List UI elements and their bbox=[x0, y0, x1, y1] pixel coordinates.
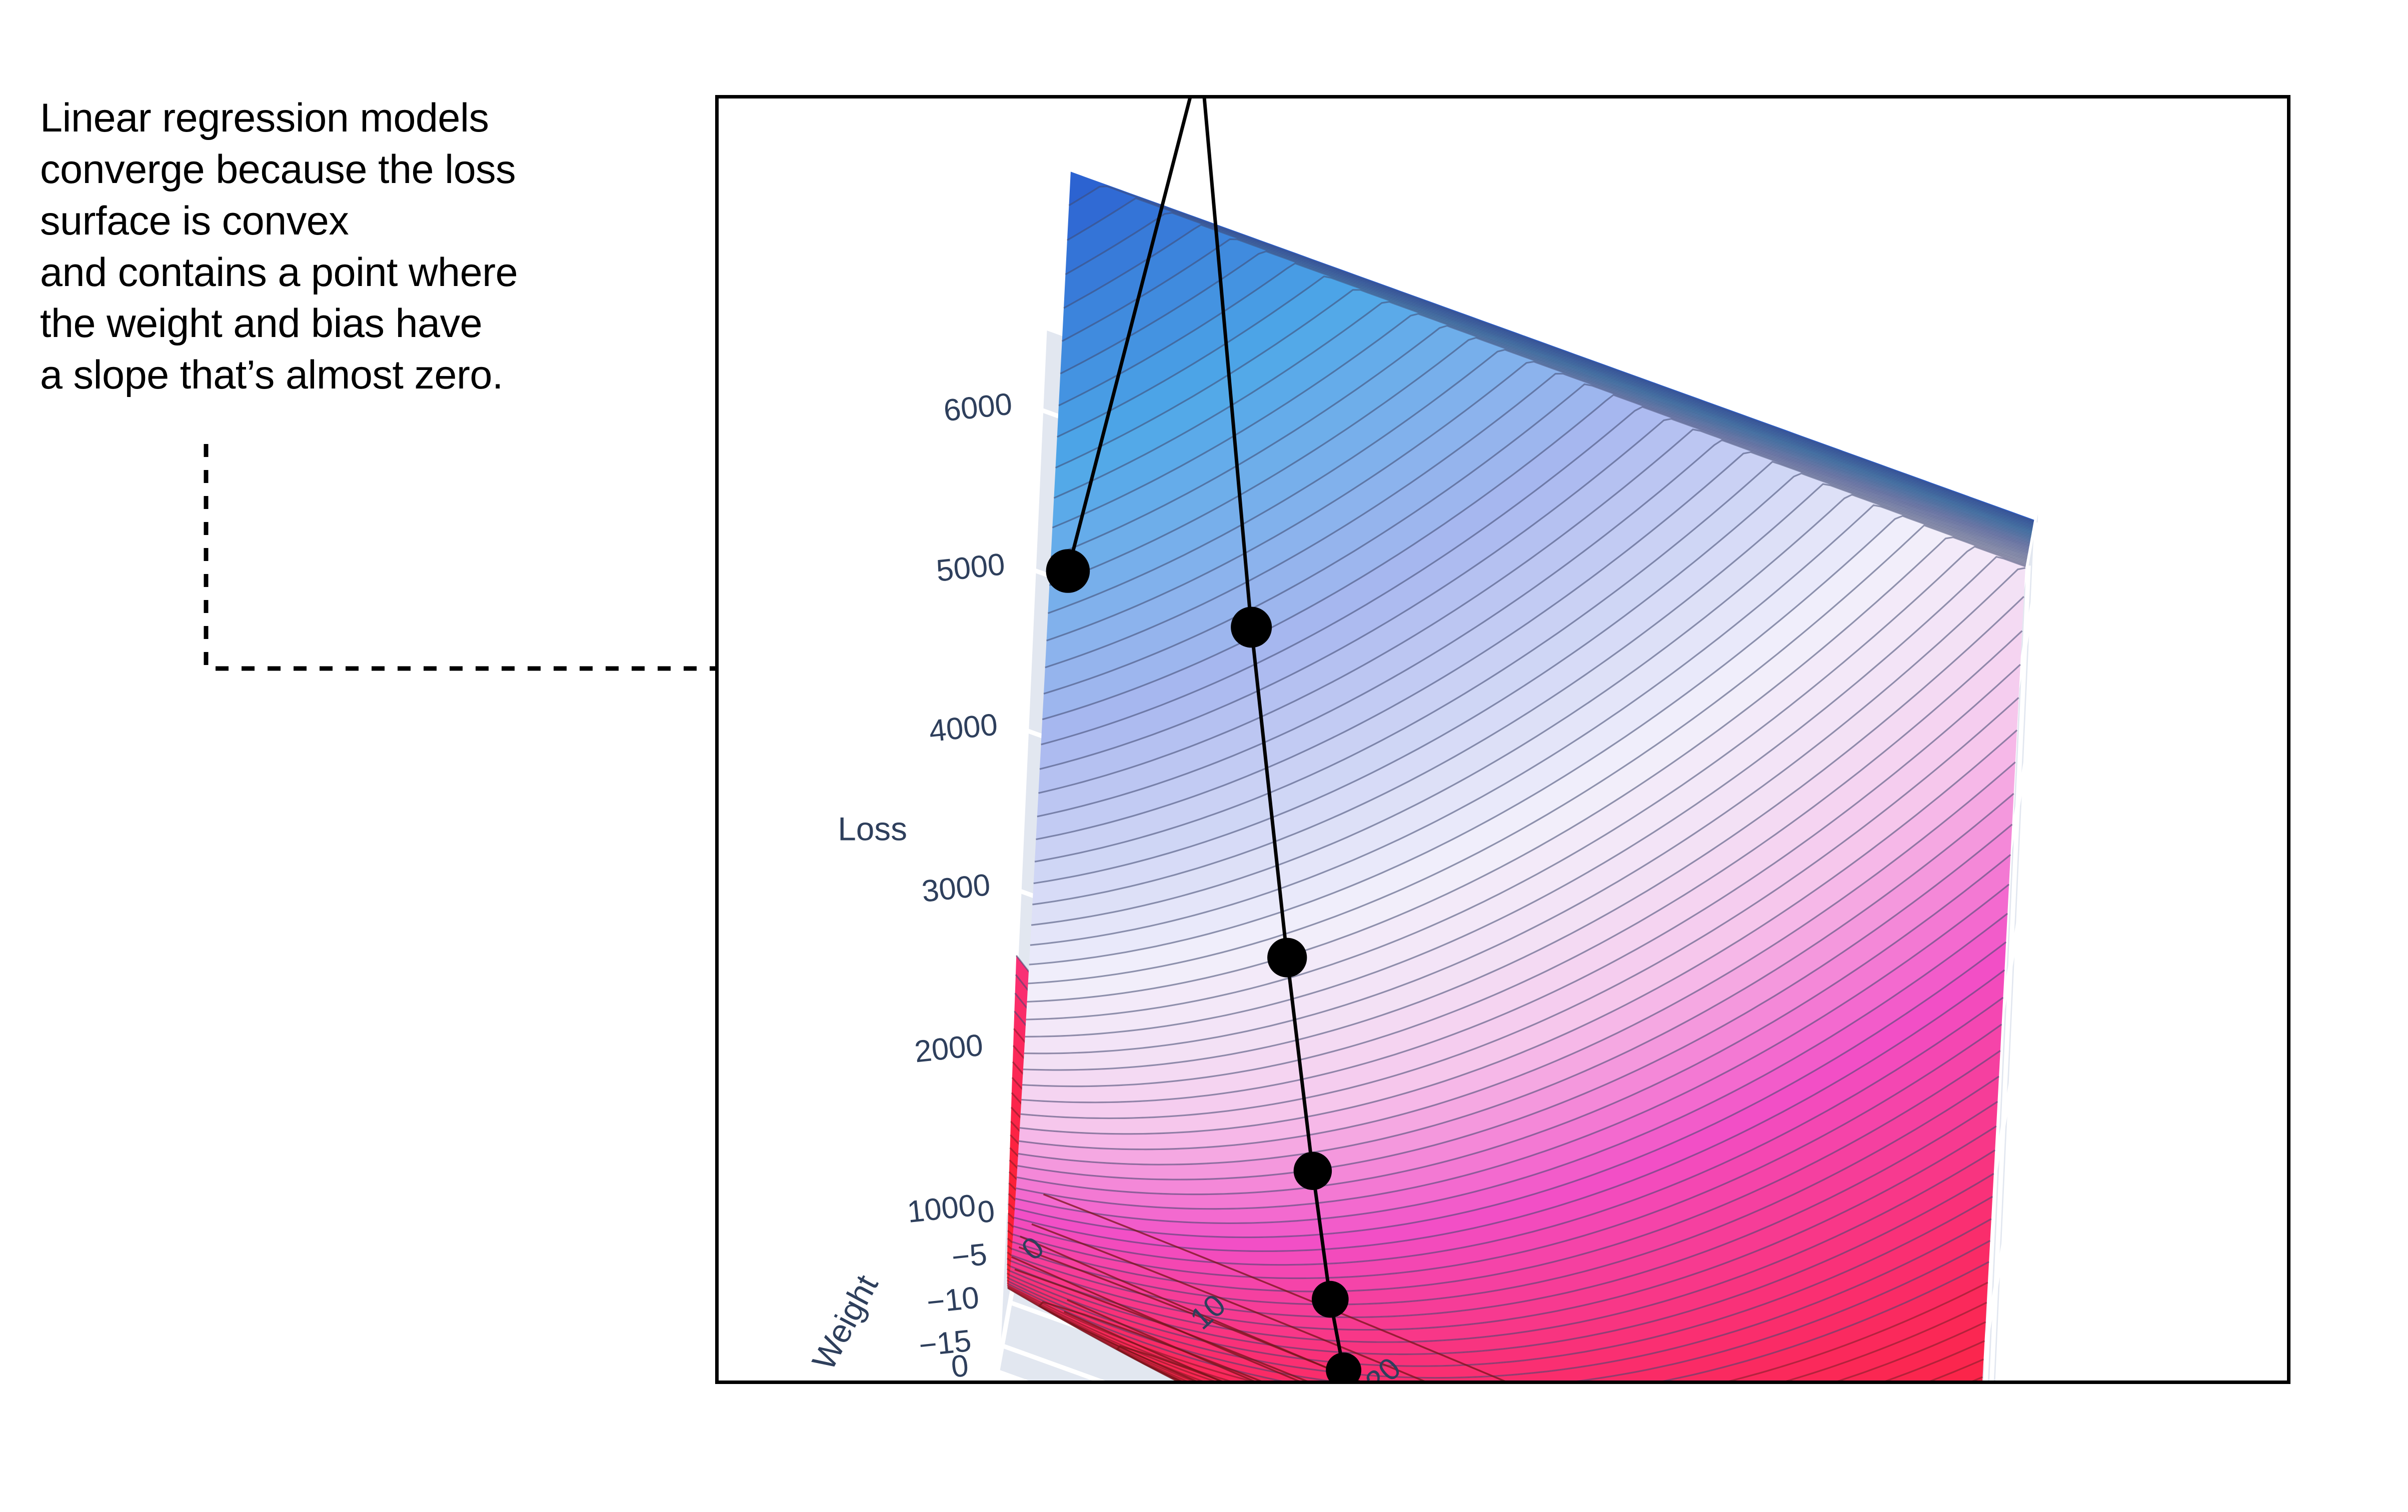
plot-canvas: 01000200030004000500060000−5−10−15010203… bbox=[719, 98, 2287, 1380]
tick-label: −5 bbox=[950, 1237, 989, 1275]
tick-label: 5000 bbox=[935, 547, 1007, 588]
tick-label: 6000 bbox=[942, 386, 1014, 428]
tick-label: 2000 bbox=[913, 1028, 985, 1069]
tick-label: 1000 bbox=[906, 1188, 978, 1229]
tick-label: −15 bbox=[917, 1323, 973, 1363]
loss-surface-plot: 01000200030004000500060000−5−10−15010203… bbox=[715, 95, 2290, 1384]
tick-label: 4000 bbox=[927, 707, 999, 748]
figure-root: Linear regression models converge becaus… bbox=[0, 0, 2408, 1512]
annotation-text: Linear regression models converge becaus… bbox=[40, 92, 655, 401]
y-axis-title: Weight bbox=[805, 1269, 885, 1376]
surface-mesh bbox=[1007, 171, 2034, 1380]
tick-label: 0 bbox=[976, 1194, 996, 1230]
z-axis-title: Loss bbox=[838, 811, 907, 847]
tick-label: −10 bbox=[925, 1280, 981, 1320]
tick-label: 3000 bbox=[920, 867, 992, 909]
